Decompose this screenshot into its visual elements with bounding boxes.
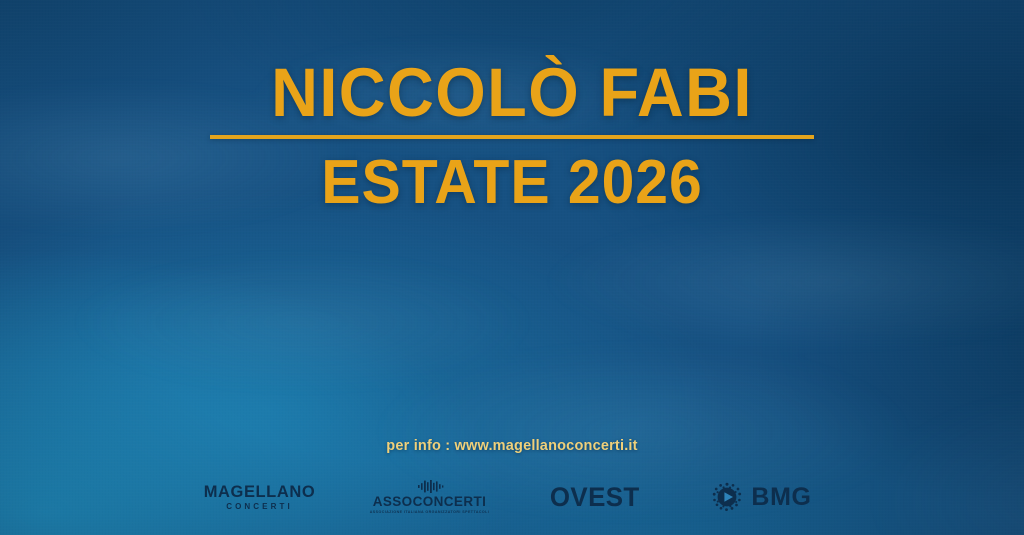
sponsor-logo-assoconcerti[interactable]: ASSOCONCERTI ASSOCIAZIONE ITALIANA ORGAN… (345, 473, 515, 521)
info-website-line[interactable]: per info : www.magellanoconcerti.it (0, 438, 1024, 454)
title-divider-rule (210, 135, 814, 139)
assoconcerti-tagline: ASSOCIAZIONE ITALIANA ORGANIZZATORI SPET… (370, 511, 490, 515)
assoconcerti-wordmark: ASSOCONCERTI (373, 495, 487, 509)
magellano-subtitle: CONCERTI (226, 503, 293, 511)
sponsor-logo-ovest[interactable]: OVEST (515, 473, 675, 521)
bmg-sphere-play-icon (712, 482, 742, 512)
concert-poster: NICCOLÒ FABI ESTATE 2026 per info : www.… (0, 0, 1024, 535)
tour-title: ESTATE 2026 (26, 152, 999, 214)
sponsor-logo-magellano[interactable]: MAGELLANO CONCERTI (175, 473, 345, 521)
artist-name: NICCOLÒ FABI (31, 58, 994, 127)
sponsor-logo-row: MAGELLANO CONCERTI ASSOCONCERTI ASSOCIAZ (0, 473, 1024, 521)
bmg-wordmark: BMG (751, 485, 811, 510)
magellano-wordmark: MAGELLANO (204, 483, 316, 500)
ovest-wordmark: OVEST (550, 484, 640, 511)
sponsor-logo-bmg[interactable]: BMG (675, 473, 850, 521)
audio-waveform-icon (404, 480, 456, 493)
